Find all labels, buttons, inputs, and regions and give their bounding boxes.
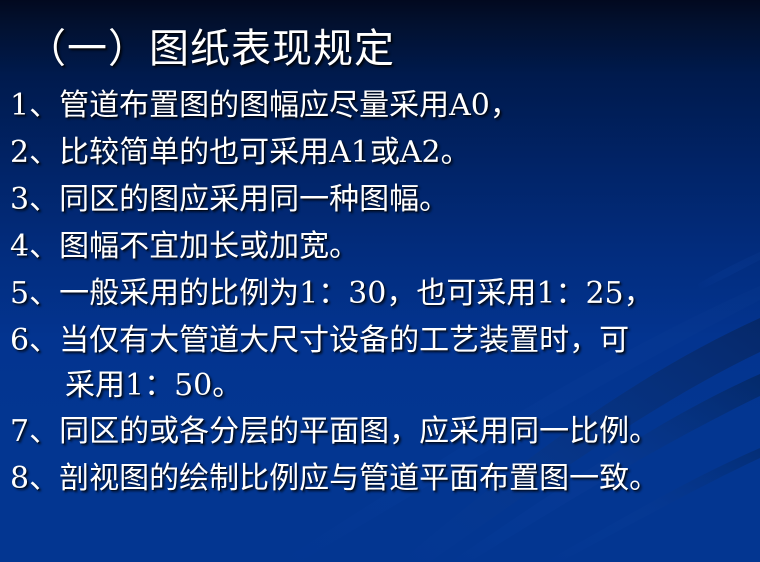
list-item-text: 剖视图的绘制比例应与管道平面布置图一致。 <box>59 455 659 502</box>
list-item-number: 7、 <box>10 408 59 455</box>
list-item: 4、图幅不宜加长或加宽。 <box>10 223 758 270</box>
list-item-text: 同区的或各分层的平面图，应采用同一比例。 <box>59 408 659 455</box>
list-item: 2、比较简单的也可采用A1或A2。 <box>10 129 758 176</box>
slide-body-list: 1、管道布置图的图幅应尽量采用A0， 2、比较简单的也可采用A1或A2。 3、同… <box>10 82 758 502</box>
list-item-text: 图幅不宜加长或加宽。 <box>59 223 359 270</box>
list-item-text: 比较简单的也可采用A1或A2。 <box>59 129 471 176</box>
slide-title: （一）图纸表现规定 <box>26 26 395 72</box>
list-item-number: 6、 <box>10 317 59 364</box>
list-item: 1、管道布置图的图幅应尽量采用A0， <box>10 82 758 129</box>
list-item: 8、剖视图的绘制比例应与管道平面布置图一致。 <box>10 455 758 502</box>
list-item-text: 同区的图应采用同一种图幅。 <box>59 176 449 223</box>
list-item: 5、一般采用的比例为1：30，也可采用1：25， <box>10 270 758 317</box>
list-item: 6、当仅有大管道大尺寸设备的工艺装置时，可 <box>10 317 758 364</box>
list-item: 3、同区的图应采用同一种图幅。 <box>10 176 758 223</box>
list-item-number: 8、 <box>10 455 59 502</box>
list-item-text: 采用1：50。 <box>65 364 242 408</box>
list-item-number: 5、 <box>10 270 59 317</box>
list-item-number: 2、 <box>10 129 59 176</box>
list-item-continuation: 采用1：50。 <box>10 364 758 408</box>
list-item-number: 4、 <box>10 223 59 270</box>
list-item-text: 管道布置图的图幅应尽量采用A0， <box>59 82 520 129</box>
list-item-text: 当仅有大管道大尺寸设备的工艺装置时，可 <box>59 317 629 364</box>
list-item-number: 1、 <box>10 82 59 129</box>
presentation-slide: （一）图纸表现规定 1、管道布置图的图幅应尽量采用A0， 2、比较简单的也可采用… <box>0 0 760 562</box>
list-item: 7、同区的或各分层的平面图，应采用同一比例。 <box>10 408 758 455</box>
list-item-text: 一般采用的比例为1：30，也可采用1：25， <box>59 270 654 317</box>
list-item-number: 3、 <box>10 176 59 223</box>
